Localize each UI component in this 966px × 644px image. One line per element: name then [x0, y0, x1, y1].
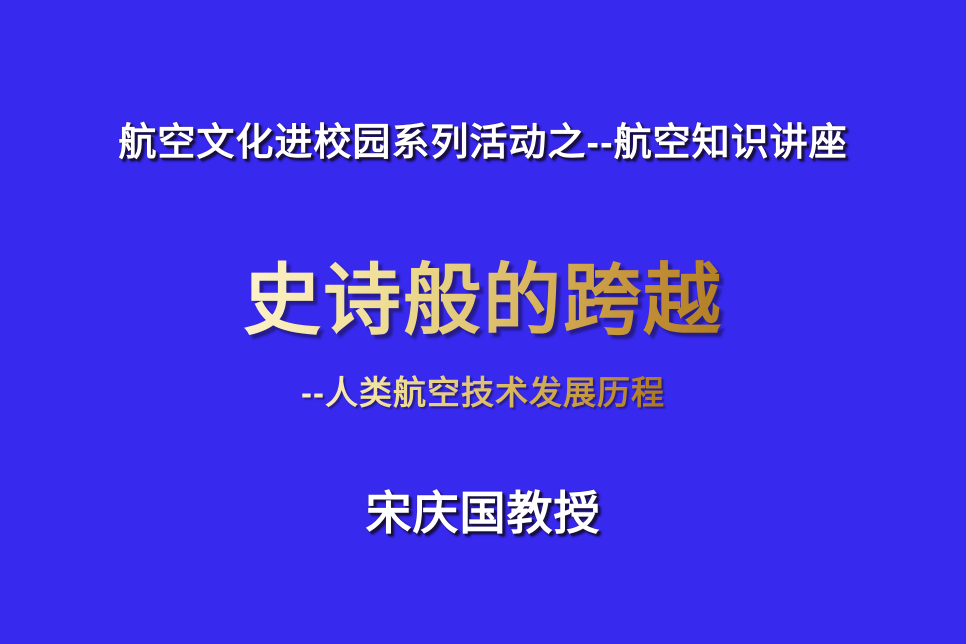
- main-title-container: 史诗般的跨越 史诗般的跨越: [0, 252, 966, 352]
- presenter-name: 宋庆国教授: [0, 484, 966, 542]
- main-title: 史诗般的跨越 史诗般的跨越: [243, 252, 723, 348]
- main-title-text: 史诗般的跨越: [243, 256, 723, 344]
- presentation-slide: 航空文化进校园系列活动之--航空知识讲座 史诗般的跨越 史诗般的跨越 --人类航…: [0, 0, 966, 644]
- subtitle: --人类航空技术发展历程 --人类航空技术发展历程: [301, 372, 665, 414]
- subtitle-text: --人类航空技术发展历程: [301, 374, 665, 411]
- subtitle-container: --人类航空技术发展历程 --人类航空技术发展历程: [0, 372, 966, 420]
- event-series-heading: 航空文化进校园系列活动之--航空知识讲座: [0, 118, 966, 168]
